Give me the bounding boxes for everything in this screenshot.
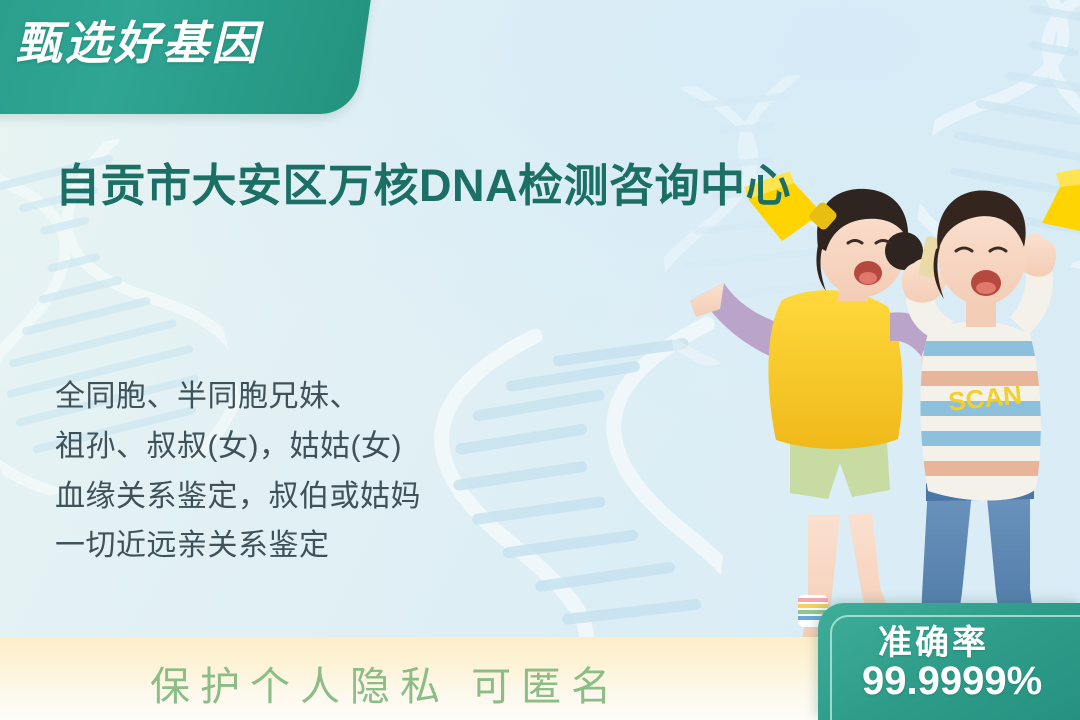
- service-description: 全同胞、半同胞兄妹、 祖孙、叔叔(女)，姑姑(女) 血缘关系鉴定，叔伯或姑妈 一…: [55, 372, 615, 571]
- accuracy-badge: 准确率 99.9999%: [818, 603, 1080, 720]
- privacy-slogan: 保护个人隐私 可匿名: [150, 654, 621, 712]
- page-title: 自贡市大安区万核DNA检测咨询中心: [55, 157, 825, 215]
- description-line-1: 全同胞、半同胞兄妹、: [55, 372, 615, 422]
- description-line-2: 祖孙、叔叔(女)，姑姑(女): [55, 422, 615, 472]
- logo-text: 甄选好基因: [0, 6, 283, 74]
- description-line-4: 一切近远亲关系鉴定: [55, 521, 615, 571]
- promotional-banner: SCAN 甄选好基因 自: [0, 0, 1080, 720]
- man-megaphone: [1042, 167, 1080, 231]
- logo-banner: 甄选好基因: [0, 0, 373, 114]
- accuracy-label: 准确率: [878, 615, 989, 664]
- accuracy-value: 99.9999%: [862, 659, 1042, 704]
- description-line-3: 血缘关系鉴定，叔伯或姑妈: [55, 472, 615, 522]
- man-shirt: SCAN: [910, 321, 1060, 500]
